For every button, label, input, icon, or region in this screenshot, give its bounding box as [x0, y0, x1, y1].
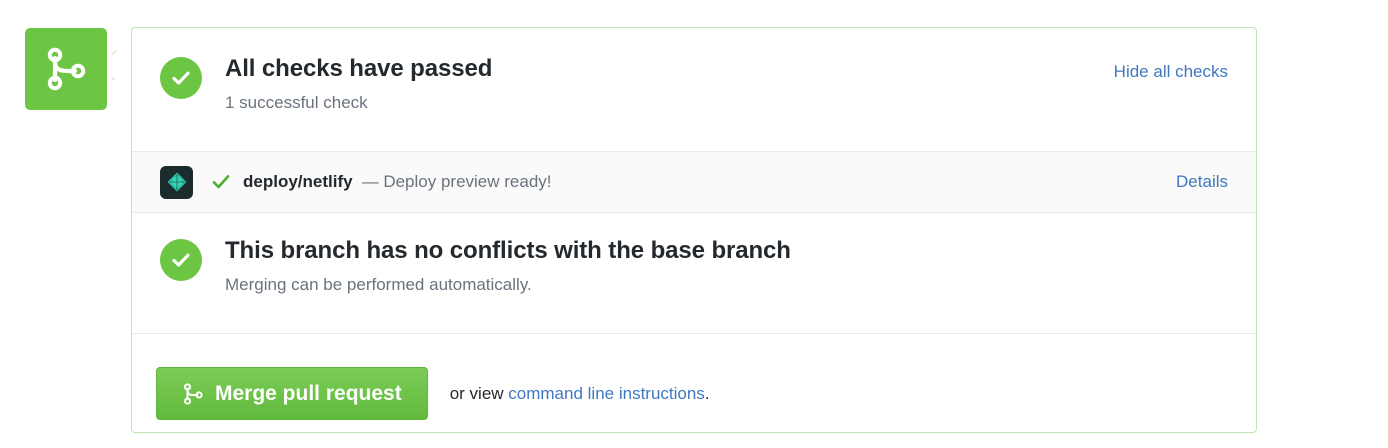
checks-summary-subtitle: 1 successful check: [225, 92, 1114, 114]
git-merge-icon: [182, 382, 204, 406]
merge-pull-request-button[interactable]: Merge pull request: [156, 367, 428, 420]
conflicts-title: This branch has no conflicts with the ba…: [225, 237, 1228, 265]
checks-summary-row: All checks have passed 1 successful chec…: [132, 28, 1256, 151]
conflicts-status-row: This branch has no conflicts with the ba…: [132, 213, 1256, 334]
merge-aside-text: or view command line instructions.: [450, 384, 710, 404]
merge-status-panel: All checks have passed 1 successful chec…: [0, 0, 1388, 448]
merge-box: All checks have passed 1 successful chec…: [131, 27, 1257, 433]
check-separator: —: [362, 172, 379, 191]
checks-summary-title: All checks have passed: [225, 55, 1114, 83]
merge-footer: Merge pull request or view command line …: [132, 334, 1256, 431]
check-circle-icon: [160, 239, 202, 281]
check-description-text: Deploy preview ready!: [383, 172, 551, 191]
check-row-deploy-netlify: deploy/netlify — Deploy preview ready! D…: [132, 151, 1256, 213]
merge-button-label: Merge pull request: [215, 382, 402, 406]
check-circle-icon: [160, 57, 202, 99]
check-description: — Deploy preview ready!: [362, 172, 1176, 192]
git-merge-badge: [25, 28, 107, 110]
hide-all-checks-link[interactable]: Hide all checks: [1114, 62, 1228, 82]
git-merge-icon: [44, 45, 88, 93]
check-name: deploy/netlify: [243, 172, 353, 192]
conflicts-subtitle: Merging can be performed automatically.: [225, 274, 1228, 296]
command-line-instructions-link[interactable]: command line instructions: [508, 384, 705, 403]
check-details-link[interactable]: Details: [1176, 172, 1228, 192]
conflicts-status-text: This branch has no conflicts with the ba…: [225, 237, 1228, 296]
check-mark-icon: [211, 172, 231, 192]
checks-summary-text: All checks have passed 1 successful chec…: [225, 55, 1114, 114]
netlify-logo-icon: [160, 166, 193, 199]
merge-aside-prefix: or view: [450, 384, 509, 403]
merge-aside-suffix: .: [705, 384, 710, 403]
